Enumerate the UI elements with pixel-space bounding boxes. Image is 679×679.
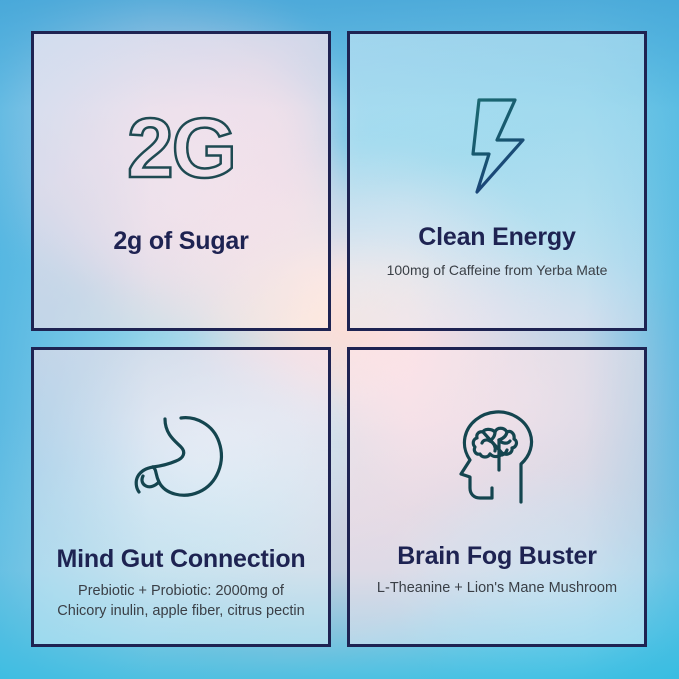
lightning-bolt-icon (461, 96, 533, 196)
benefit-heading-brain-fog: Brain Fog Buster (397, 543, 597, 569)
benefit-card-brain-fog: Brain Fog Buster L-Theanine + Lion's Man… (347, 347, 647, 647)
head-brain-icon (452, 407, 542, 507)
benefit-card-sugar: 2G 2g of Sugar (31, 31, 331, 331)
benefit-subtitle-brain-fog: L-Theanine + Lion's Mane Mushroom (377, 579, 617, 599)
benefit-heading-mind-gut: Mind Gut Connection (57, 546, 306, 572)
sugar-2g-icon: 2G (127, 102, 235, 194)
benefit-heading-sugar: 2g of Sugar (113, 228, 248, 254)
benefit-card-mind-gut: Mind Gut Connection Prebiotic + Probioti… (31, 347, 331, 647)
benefit-subtitle-mind-gut: Prebiotic + Probiotic: 2000mg of Chicory… (57, 582, 304, 621)
benefit-heading-clean-energy: Clean Energy (418, 224, 575, 250)
benefit-card-clean-energy: Clean Energy 100mg of Caffeine from Yerb… (347, 31, 647, 331)
benefit-subtitle-clean-energy: 100mg of Caffeine from Yerba Mate (387, 261, 608, 280)
sugar-2g-icon-label: 2G (127, 106, 235, 190)
product-benefits-infographic: 2G 2g of Sugar (0, 0, 679, 679)
benefits-grid: 2G 2g of Sugar (31, 31, 647, 647)
stomach-icon (129, 410, 233, 510)
